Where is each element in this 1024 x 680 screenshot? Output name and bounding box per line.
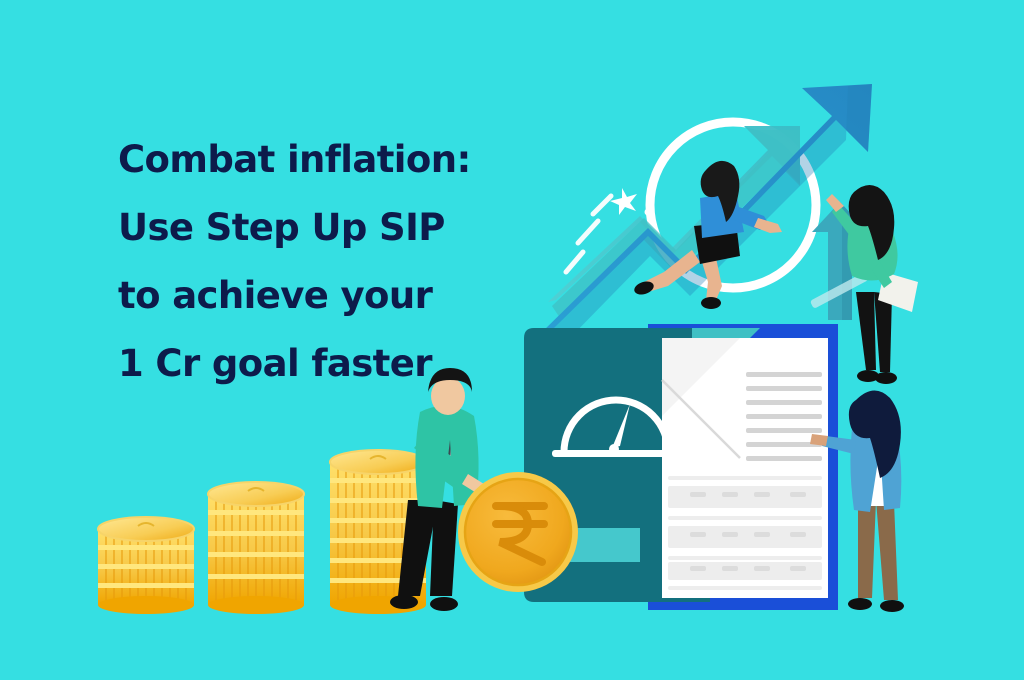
shoe-icon (880, 600, 904, 612)
shoe-icon (875, 372, 897, 384)
coin-stack-2 (208, 482, 304, 614)
report-document (662, 338, 828, 598)
headline-line-1: Combat inflation: (118, 126, 538, 194)
headline-line-2: Use Step Up SIP (118, 194, 538, 262)
rupee-coin (458, 472, 578, 592)
page-title: Combat inflation: Use Step Up SIP to ach… (118, 126, 538, 398)
shoe-icon (430, 597, 458, 611)
headline-line-4: 1 Cr goal faster (118, 330, 538, 398)
sparkle-small-icon (645, 209, 652, 216)
coin-stack-1 (98, 517, 194, 614)
headline-line-3: to achieve your (118, 262, 538, 330)
shoe-icon (390, 595, 418, 609)
shoe-icon (701, 297, 721, 309)
shoe-icon (848, 598, 872, 610)
sip-promo-banner: Combat inflation: Use Step Up SIP to ach… (0, 0, 1024, 680)
